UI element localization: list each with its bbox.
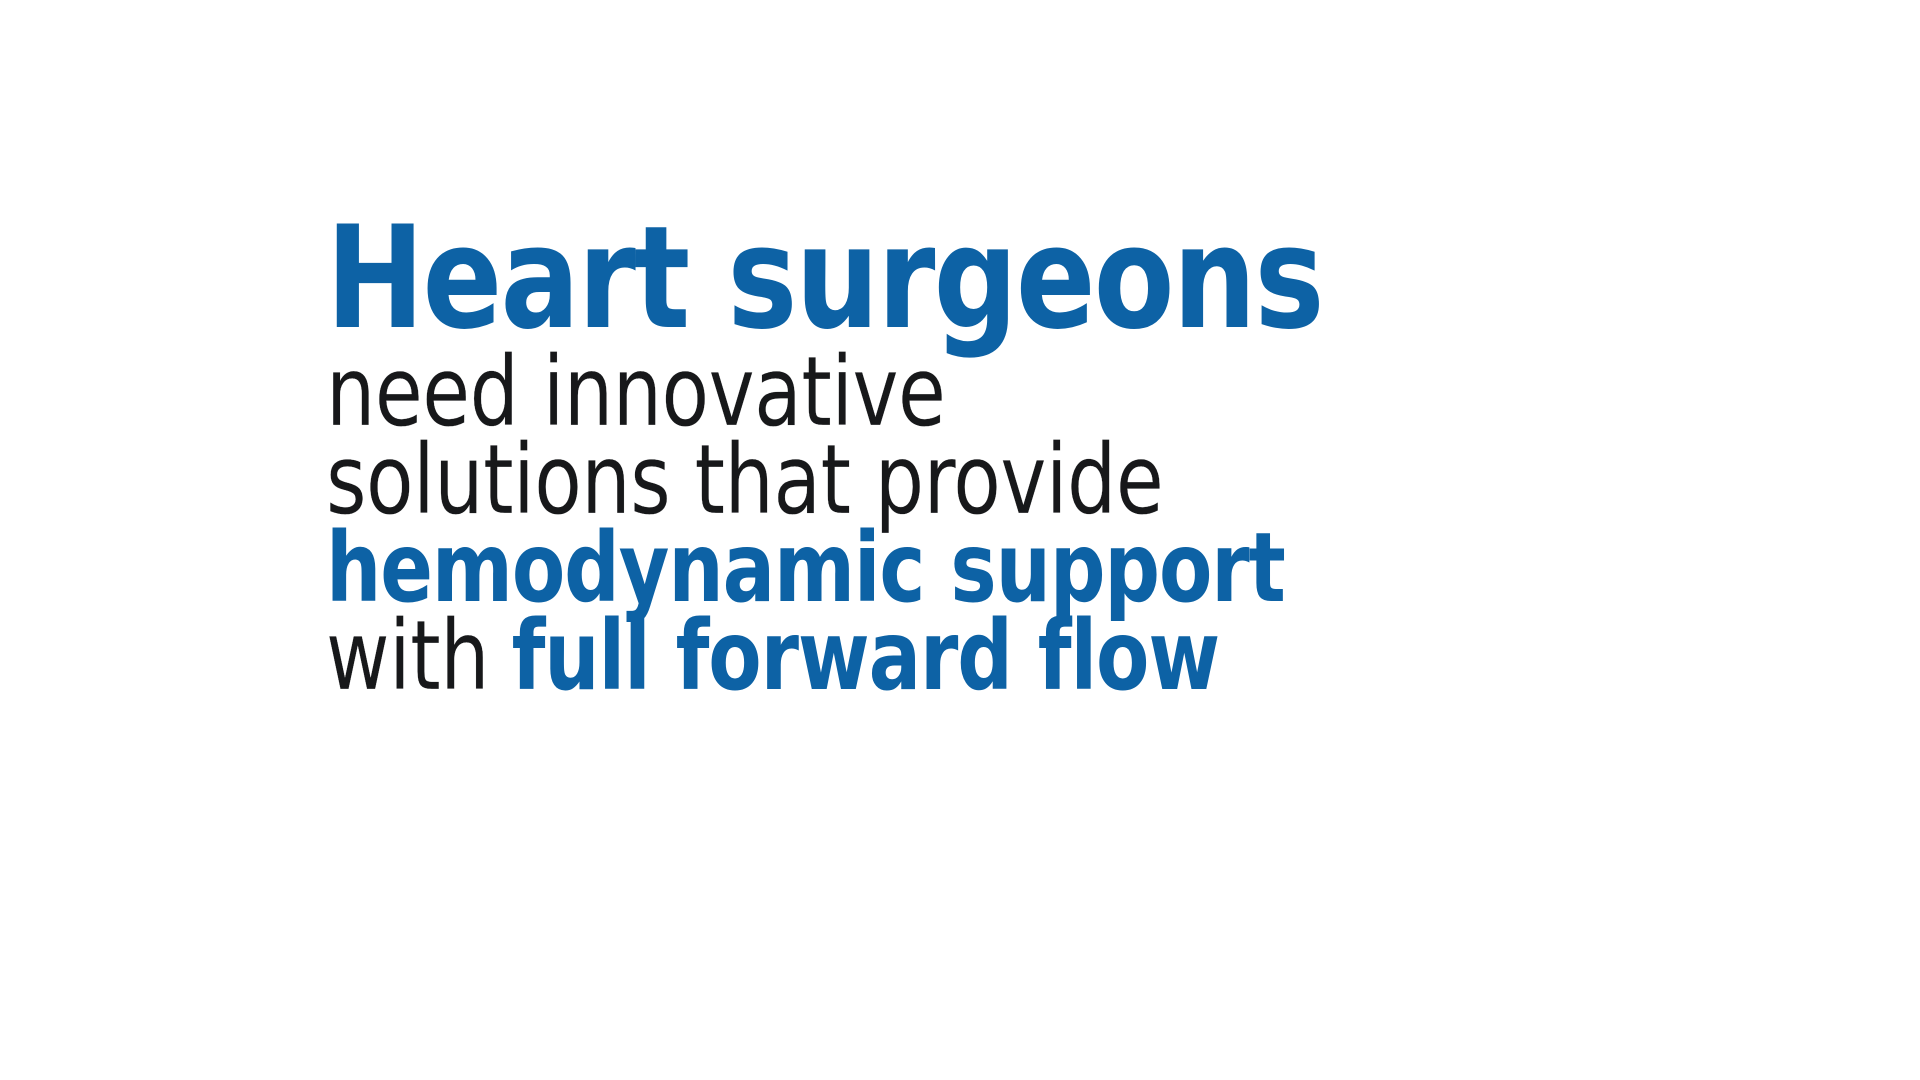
headline-text-block: Heart surgeons need innovative solutions… [326,214,1526,700]
body-line-5-emphasis: full forward flow [512,600,1220,712]
body-line-3: solutions that provide [326,436,1406,524]
body-line-5: withfull forward flow [326,612,1406,700]
body-line-2: need innovative [326,348,1406,436]
slide-canvas: Heart surgeons need innovative solutions… [0,0,1920,1080]
headline-line-1: Heart surgeons [326,214,1430,344]
body-line-5-prefix: with [326,600,489,712]
body-line-4: hemodynamic support [326,524,1406,612]
